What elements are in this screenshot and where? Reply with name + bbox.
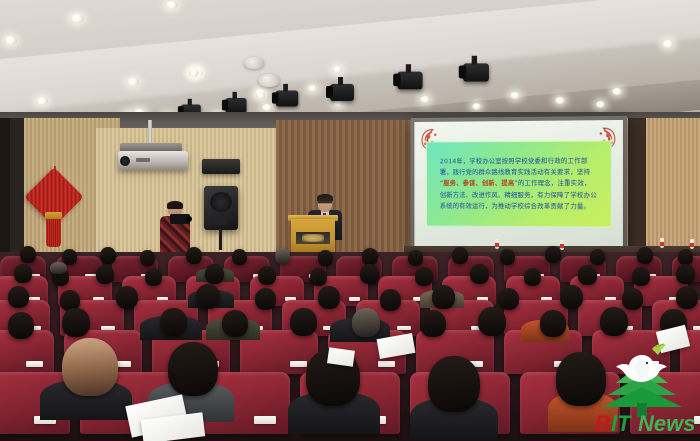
handout-paper[interactable] bbox=[327, 347, 355, 366]
logo-letter-b: B bbox=[595, 411, 611, 436]
audience-head bbox=[222, 310, 248, 337]
cameraman-hair bbox=[167, 201, 183, 209]
audience-head bbox=[380, 289, 401, 311]
audience-head bbox=[590, 249, 605, 265]
presenter-hair bbox=[317, 194, 333, 202]
recessed-downlight bbox=[70, 14, 84, 23]
water-bottle bbox=[690, 239, 694, 249]
audience-head bbox=[100, 247, 116, 264]
auditorium-photo: 2014年，学校办公室按照学校党委和行政的工作部 署，践行党的群众路线教育实践活… bbox=[0, 0, 700, 441]
audience-head bbox=[255, 288, 276, 310]
recessed-downlight bbox=[189, 70, 198, 77]
audience-head bbox=[637, 247, 653, 264]
audience-head bbox=[145, 268, 162, 286]
seat-number-tag bbox=[254, 416, 276, 424]
audience-head bbox=[290, 308, 317, 336]
leaf-accent-icon bbox=[652, 344, 666, 355]
audience-head bbox=[360, 264, 379, 284]
recessed-downlight bbox=[333, 66, 342, 73]
bit-news-watermark: B IT News bbox=[590, 341, 696, 437]
projection-screen: 2014年，学校办公室按照学校党委和行政的工作部 署，践行党的群众路线教育实践活… bbox=[411, 116, 627, 254]
recessed-downlight bbox=[308, 85, 317, 92]
audience-head bbox=[676, 286, 698, 309]
audience-head bbox=[470, 264, 489, 284]
smoke-detector bbox=[258, 74, 280, 87]
audience-head bbox=[676, 264, 695, 284]
slide-line-3-suffix: ”的工作理念，注重实效， bbox=[514, 179, 590, 187]
audience-head bbox=[318, 250, 333, 266]
audience-head bbox=[310, 268, 327, 286]
audience-head bbox=[318, 286, 340, 309]
audience-head bbox=[258, 266, 276, 285]
camera-lens-icon bbox=[186, 216, 192, 222]
stage-spotlight bbox=[330, 84, 354, 101]
audience-head bbox=[168, 342, 218, 396]
recessed-downlight bbox=[596, 101, 605, 108]
bit-news-logo-icon: B IT News bbox=[590, 341, 696, 437]
water-bottle bbox=[560, 240, 564, 250]
audience-head bbox=[632, 267, 650, 286]
logo-letter-it: IT bbox=[611, 411, 632, 436]
audience-head bbox=[408, 250, 423, 266]
audience-head bbox=[498, 288, 519, 310]
audience-head bbox=[275, 248, 290, 264]
audience-head bbox=[140, 250, 155, 266]
audience-head bbox=[205, 264, 224, 284]
audience-head bbox=[196, 284, 220, 309]
speaker-stand bbox=[219, 228, 222, 250]
audience-head bbox=[96, 265, 114, 284]
seat-number-tag bbox=[290, 361, 307, 367]
audience-head bbox=[186, 247, 202, 264]
audience-head bbox=[678, 249, 693, 265]
audience-head bbox=[540, 310, 566, 337]
recessed-downlight bbox=[555, 97, 565, 104]
audience-head bbox=[524, 268, 541, 286]
logo-word-news: News bbox=[638, 411, 695, 436]
stage-spotlight bbox=[463, 63, 489, 81]
projector-label bbox=[136, 158, 150, 162]
wall-speaker-small bbox=[202, 159, 240, 174]
stage-spotlight bbox=[225, 98, 246, 113]
audience-head bbox=[432, 285, 455, 309]
audience-head bbox=[500, 249, 515, 265]
stage-spotlight bbox=[397, 72, 422, 90]
slide-line-4: 创新方法、改进作风、精细服务，有力保障了学校办公 bbox=[440, 190, 597, 202]
audience-head bbox=[352, 308, 380, 337]
recessed-downlight bbox=[420, 96, 430, 103]
recessed-downlight bbox=[662, 40, 674, 48]
recessed-downlight bbox=[4, 36, 17, 45]
audience-head bbox=[420, 310, 446, 337]
recessed-downlight bbox=[127, 78, 139, 86]
water-bottle bbox=[660, 238, 664, 248]
audience-head bbox=[452, 247, 468, 264]
stage-spotlight bbox=[276, 91, 299, 107]
water-bottle bbox=[495, 239, 499, 249]
seat-number-tag bbox=[378, 361, 395, 367]
seat-number-tag bbox=[349, 297, 361, 301]
recessed-downlight bbox=[510, 92, 520, 99]
audience-head bbox=[14, 264, 32, 283]
projector-lens bbox=[120, 156, 130, 166]
audience-head bbox=[20, 246, 36, 263]
slide-content-box: 2014年，学校办公室按照学校党委和行政的工作部 署，践行党的群众路线教育实践活… bbox=[426, 140, 612, 227]
audience-head bbox=[415, 267, 433, 286]
audience-head bbox=[50, 262, 67, 274]
recessed-downlight bbox=[333, 100, 343, 107]
slide-text-body: 2014年，学校办公室按照学校党委和行政的工作部 署，践行党的群众路线教育实践活… bbox=[434, 155, 603, 213]
audience-head bbox=[62, 308, 90, 337]
audience-head-bald bbox=[62, 338, 118, 396]
smoke-detector bbox=[244, 57, 264, 69]
audience-head bbox=[362, 248, 378, 265]
recessed-downlight bbox=[165, 1, 178, 9]
bit-news-wordmark: B IT News bbox=[595, 411, 695, 436]
recessed-downlight bbox=[256, 92, 265, 99]
slide-line-3: “服务、参谋、创新、提高”的工作理念，注重实效， bbox=[440, 178, 597, 190]
slide-keywords: 服务、参谋、创新、提高 bbox=[443, 179, 514, 187]
audience-head bbox=[478, 307, 506, 336]
audience-head bbox=[232, 249, 247, 265]
recessed-downlight bbox=[612, 88, 622, 95]
slide-line-2: 署，践行党的群众路线教育实践活动有关要求，坚持 bbox=[440, 167, 597, 179]
audience-head bbox=[600, 307, 628, 336]
podium-emblem bbox=[302, 234, 324, 242]
audience-head bbox=[160, 308, 187, 336]
chinese-knot-tassel bbox=[46, 219, 61, 247]
audience-head bbox=[560, 285, 583, 309]
audience-head bbox=[545, 246, 561, 263]
audience-head bbox=[8, 286, 29, 308]
recessed-downlight bbox=[262, 104, 272, 111]
seat-number-tag bbox=[26, 361, 43, 367]
audience-head bbox=[116, 286, 138, 309]
recessed-downlight bbox=[36, 97, 48, 105]
recessed-downlight bbox=[472, 103, 481, 110]
audience-head bbox=[8, 312, 34, 339]
audience-head bbox=[428, 356, 480, 412]
audience-head bbox=[578, 265, 597, 285]
wall-speaker bbox=[204, 186, 238, 230]
slide-line-5: 系统的有效运行，为推动学校综合改革贡献了力量。 bbox=[440, 201, 597, 213]
audience-head bbox=[622, 288, 643, 310]
projection-screen-surface: 2014年，学校办公室按照学校党委和行政的工作部 署，践行党的群众路线教育实践活… bbox=[414, 120, 622, 250]
slide-line-1: 2014年，学校办公室按照学校党委和行政的工作部 bbox=[440, 155, 597, 167]
